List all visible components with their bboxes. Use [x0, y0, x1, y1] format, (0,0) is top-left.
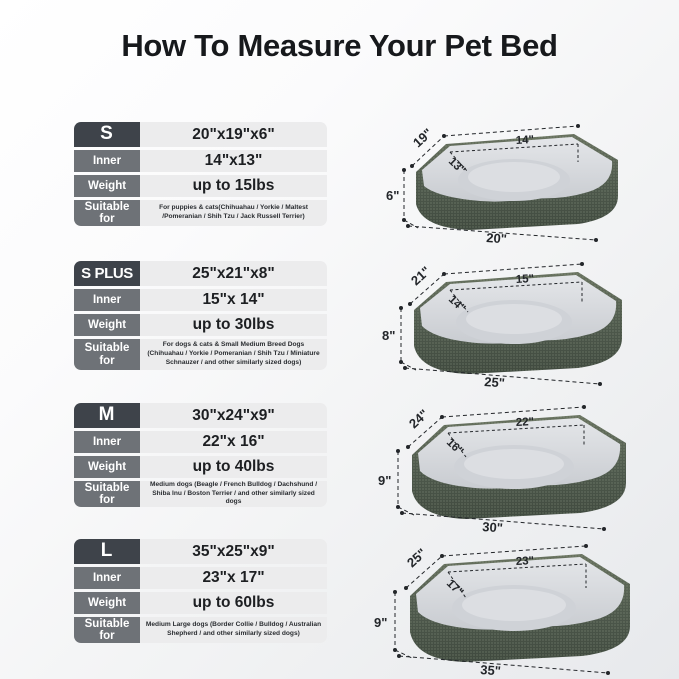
weight-label-cell: Weight: [74, 456, 140, 478]
table-row-inner: Inner 15"x 14": [74, 289, 327, 311]
weight-value-cell: up to 15lbs: [140, 175, 327, 197]
suitable-value-cell: Medium Large dogs (Border Collie / Bulld…: [140, 617, 327, 643]
bed-illustration-m: 24" 9" 30" 22" 16": [374, 383, 674, 533]
outer-dimensions-cell: 25"x21"x8": [140, 261, 327, 286]
suitable-value-cell: For puppies & cats(Chihuahau / Yorkie / …: [140, 200, 327, 226]
inner-dimensions-cell: 22"x 16": [140, 431, 327, 453]
suitable-label-cell: Suitablefor: [74, 200, 140, 226]
inner-dimensions-cell: 15"x 14": [140, 289, 327, 311]
table-row-size: L 35"x25"x9": [74, 539, 327, 564]
table-row-suitable: Suitablefor Medium Large dogs (Border Co…: [74, 617, 327, 643]
table-row-suitable: Suitablefor For puppies & cats(Chihuahau…: [74, 200, 327, 226]
dimension-inner-long-label: 15": [516, 273, 535, 286]
page-title: How To Measure Your Pet Bed: [0, 28, 679, 64]
outer-dimensions-cell: 35"x25"x9": [140, 539, 327, 564]
spec-table-s-plus: S PLUS 25"x21"x8" Inner 15"x 14" Weight …: [74, 261, 327, 373]
weight-label-cell: Weight: [74, 314, 140, 336]
inner-dimensions-cell: 23"x 17": [140, 567, 327, 589]
spec-table-m: M 30"x24"x9" Inner 22"x 16" Weight up to…: [74, 403, 327, 510]
dimension-height-label: 8": [382, 328, 395, 343]
table-row-weight: Weight up to 30lbs: [74, 314, 327, 336]
table-row-suitable: Suitablefor Medium dogs (Beagle / French…: [74, 481, 327, 507]
table-row-weight: Weight up to 60lbs: [74, 592, 327, 614]
suitable-label-cell: Suitablefor: [74, 339, 140, 370]
weight-value-cell: up to 60lbs: [140, 592, 327, 614]
outer-dimensions-cell: 30"x24"x9": [140, 403, 327, 428]
weight-value-cell: up to 40lbs: [140, 456, 327, 478]
size-name-cell: S PLUS: [74, 261, 140, 286]
dimension-inner-long-label: 22": [516, 416, 535, 429]
size-name-cell: L: [74, 539, 140, 564]
dimension-depth-label: 25": [404, 545, 429, 570]
table-row-weight: Weight up to 40lbs: [74, 456, 327, 478]
table-row-size: S 20"x19"x6": [74, 122, 327, 147]
outer-dimensions-cell: 20"x19"x6": [140, 122, 327, 147]
table-row-inner: Inner 22"x 16": [74, 431, 327, 453]
weight-label-cell: Weight: [74, 592, 140, 614]
suitable-label-cell: Suitablefor: [74, 481, 140, 507]
dimension-depth-label: 19": [410, 125, 435, 150]
size-name-cell: M: [74, 403, 140, 428]
inner-label-cell: Inner: [74, 567, 140, 589]
size-name-cell: S: [74, 122, 140, 147]
dimension-width-label: 35": [480, 662, 502, 677]
bed-illustration-s: 19" 6" 20" 14" 13": [382, 100, 674, 245]
inner-label-cell: Inner: [74, 150, 140, 172]
suitable-value-cell: Medium dogs (Beagle / French Bulldog / D…: [140, 481, 327, 507]
dimension-depth-label: 24": [406, 406, 431, 431]
inner-label-cell: Inner: [74, 289, 140, 311]
bed-illustration-s-plus: 21" 8" 25" 15" 14": [378, 240, 674, 388]
bed-illustration-l: 25" 9" 35" 23" 17": [368, 522, 674, 677]
table-row-inner: Inner 23"x 17": [74, 567, 327, 589]
weight-value-cell: up to 30lbs: [140, 314, 327, 336]
suitable-label-cell: Suitablefor: [74, 617, 140, 643]
dimension-height-label: 9": [374, 615, 387, 630]
suitable-value-cell: For dogs & cats & Small Medium Breed Dog…: [140, 339, 327, 370]
dimension-height-label: 6": [386, 188, 399, 203]
dimension-inner-long-label: 23": [516, 555, 535, 568]
inner-dimensions-cell: 14"x13": [140, 150, 327, 172]
table-row-size: M 30"x24"x9": [74, 403, 327, 428]
table-row-weight: Weight up to 15lbs: [74, 175, 327, 197]
spec-table-l: L 35"x25"x9" Inner 23"x 17" Weight up to…: [74, 539, 327, 646]
table-row-inner: Inner 14"x13": [74, 150, 327, 172]
table-row-suitable: Suitablefor For dogs & cats & Small Medi…: [74, 339, 327, 370]
table-row-size: S PLUS 25"x21"x8": [74, 261, 327, 286]
weight-label-cell: Weight: [74, 175, 140, 197]
inner-label-cell: Inner: [74, 431, 140, 453]
dimension-inner-long-label: 14": [516, 134, 535, 147]
dimension-depth-label: 21": [408, 263, 433, 288]
infographic-page: How To Measure Your Pet Bed S 20"x19"x6"…: [0, 0, 679, 679]
dimension-height-label: 9": [378, 473, 391, 488]
spec-table-s: S 20"x19"x6" Inner 14"x13" Weight up to …: [74, 122, 327, 229]
